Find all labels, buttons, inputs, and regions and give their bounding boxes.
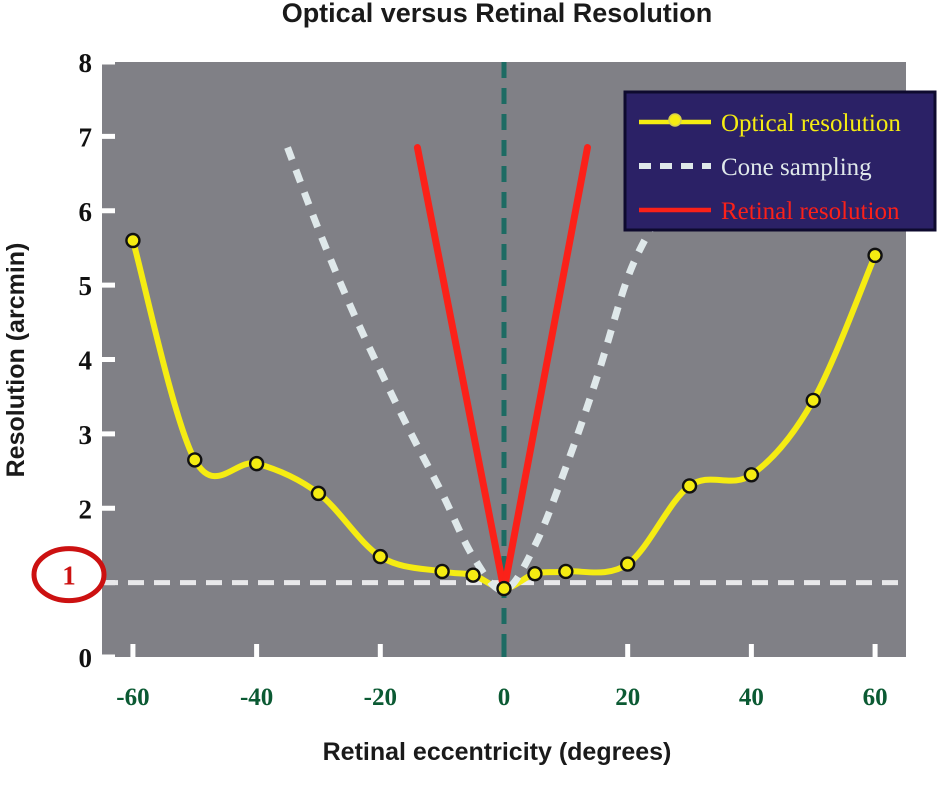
y-tick-label: 3 xyxy=(79,420,93,450)
y-tick-label: 4 xyxy=(79,346,93,376)
data-point-marker xyxy=(559,565,572,578)
data-point-marker xyxy=(436,565,449,578)
chart-legend[interactable]: Optical resolutionCone samplingRetinal r… xyxy=(625,92,935,230)
x-tick-label: 40 xyxy=(739,684,764,711)
y-tick-label: 0 xyxy=(79,643,93,673)
chart-figure: Optical versus Retinal Resolution 012345… xyxy=(0,0,946,783)
data-point-marker xyxy=(126,234,139,247)
x-tick-label: 0 xyxy=(498,684,511,711)
y-tick-label-highlighted: 1 xyxy=(62,561,76,591)
data-point-marker xyxy=(621,558,634,571)
y-tick-label: 6 xyxy=(79,197,93,227)
x-tick-label: -60 xyxy=(116,684,149,711)
legend-label: Optical resolution xyxy=(721,110,901,137)
data-point-marker xyxy=(312,487,325,500)
y-tick-label: 8 xyxy=(79,48,93,78)
data-point-marker xyxy=(745,468,758,481)
x-tick-label: -20 xyxy=(364,684,397,711)
y-axis-title: Resolution (arcmin) xyxy=(2,243,30,478)
data-point-marker xyxy=(869,249,882,262)
data-point-marker xyxy=(807,394,820,407)
data-point-marker xyxy=(374,550,387,563)
data-point-marker xyxy=(683,479,696,492)
x-tick-label: 20 xyxy=(615,684,640,711)
data-point-marker xyxy=(528,567,541,580)
x-tick-label: 60 xyxy=(863,684,888,711)
legend-label: Cone sampling xyxy=(721,154,872,181)
x-axis-title: Retinal eccentricity (degrees) xyxy=(323,738,672,766)
legend-label: Retinal resolution xyxy=(721,198,900,225)
y-tick-label: 2 xyxy=(79,494,93,524)
y-tick-label: 7 xyxy=(79,122,93,152)
y-tick-label: 5 xyxy=(79,271,93,301)
chart-title: Optical versus Retinal Resolution xyxy=(282,0,713,28)
data-point-marker xyxy=(498,582,511,595)
data-point-marker xyxy=(250,457,263,470)
data-point-marker xyxy=(188,453,201,466)
legend-swatch-marker xyxy=(669,114,681,126)
optical-vs-retinal-resolution-chart: Optical versus Retinal Resolution 012345… xyxy=(0,0,946,783)
data-point-marker xyxy=(467,569,480,582)
x-tick-label: -40 xyxy=(240,684,273,711)
